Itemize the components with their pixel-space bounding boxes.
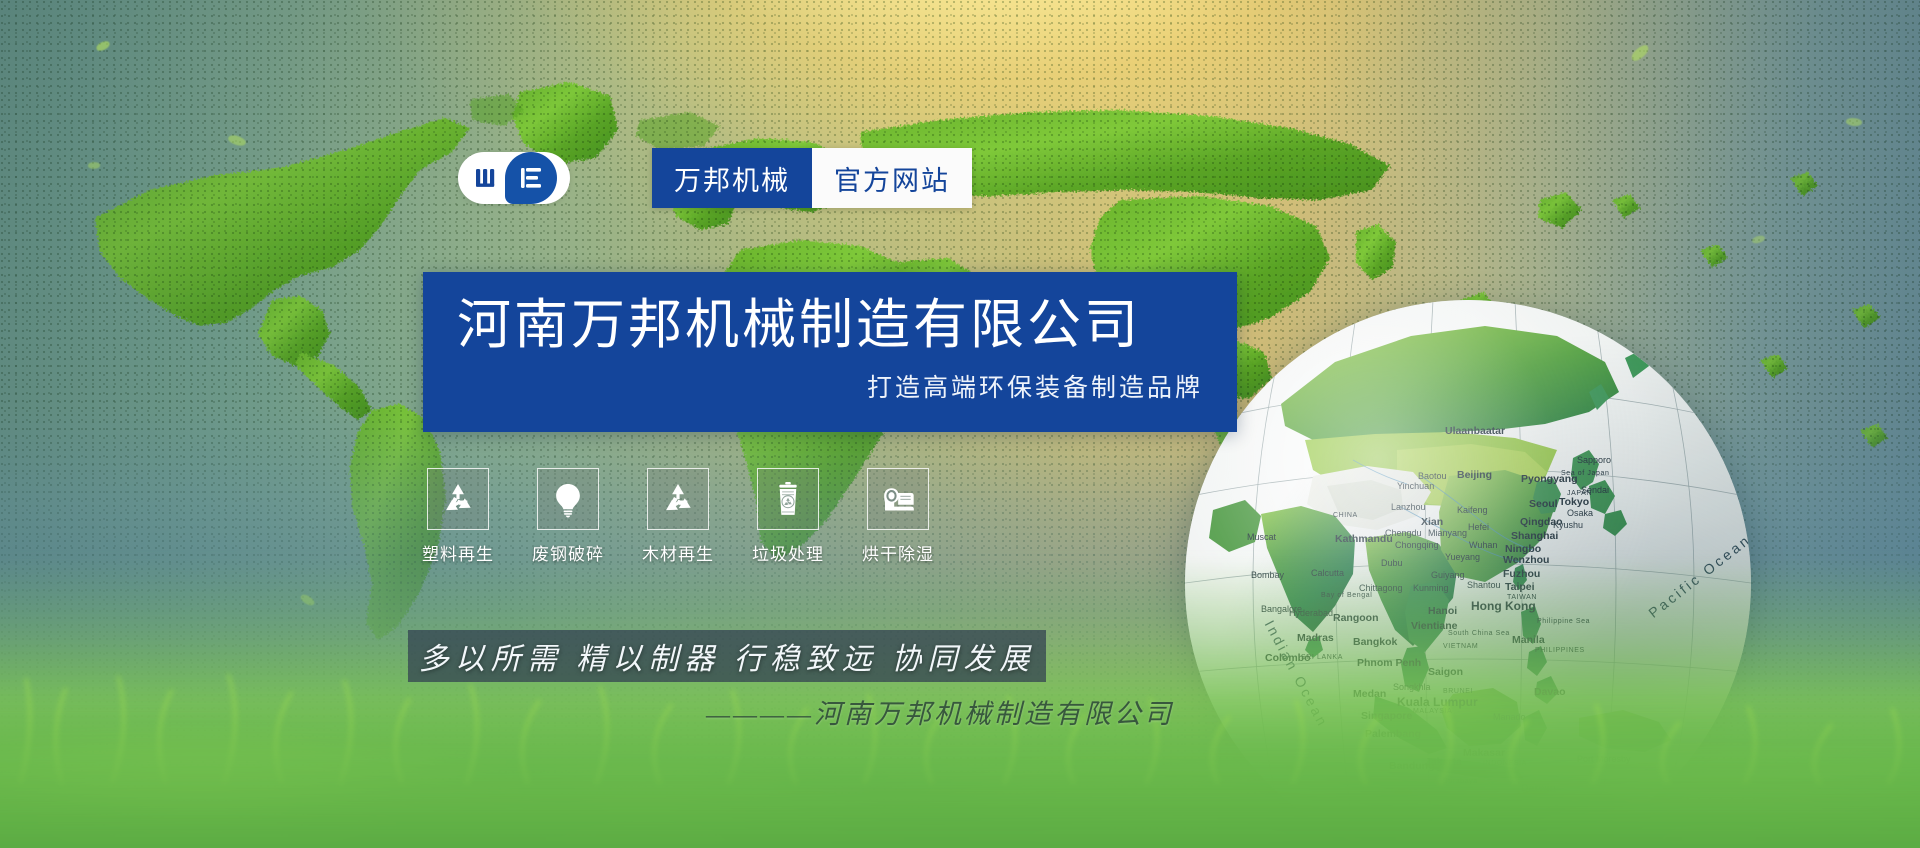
hero-title-banner: 河南万邦机械制造有限公司 打造高端环保装备制造品牌 [423,272,1237,432]
recycle-icon [439,480,477,518]
hero-banner: Ulaanbaatar Beijing Baotou Yinchuan Lanz… [0,0,1920,848]
slogan-signature: ————河南万邦机械制造有限公司 [700,692,1180,731]
feature-icon-row: 塑料再生 废钢破碎 [418,468,938,565]
nav-tabs: 万邦机械 官方网站 [652,148,972,208]
feature-item-wood-recycling[interactable]: 木材再生 [638,468,718,565]
feature-icon-box [867,468,929,530]
logo-b-bubble [505,152,557,204]
logo-w-mark [471,161,505,195]
slogan-text: 多以所需 精以制器 行稳致远 协同发展 [419,634,1036,678]
site-logo[interactable] [458,152,570,204]
feature-label: 垃圾处理 [752,540,824,565]
feature-icon-box [757,468,819,530]
feature-item-drying-dehumidifying[interactable]: 烘干除湿 [858,468,938,565]
feature-label: 塑料再生 [422,540,494,565]
feature-icon-box [647,468,709,530]
feature-item-plastic-recycling[interactable]: 塑料再生 [418,468,498,565]
tab-official-site[interactable]: 官方网站 [812,148,972,208]
lightbulb-icon [549,480,587,518]
feature-label: 木材再生 [642,540,714,565]
tab-brand[interactable]: 万邦机械 [652,148,812,208]
feature-icon-box [537,468,599,530]
recycle-icon [659,480,697,518]
logo-b-mark [518,165,544,191]
dryer-blower-icon [879,480,917,518]
feature-label: 烘干除湿 [862,540,934,565]
company-name: 河南万邦机械制造有限公司 [457,296,1203,355]
trash-bin-recycle-icon [769,480,807,518]
feature-icon-box [427,468,489,530]
company-tagline: 打造高端环保装备制造品牌 [457,368,1203,404]
slogan-bar: 多以所需 精以制器 行稳致远 协同发展 [408,630,1046,682]
feature-label: 废钢破碎 [532,540,604,565]
feature-item-waste-treatment[interactable]: 垃圾处理 [748,468,828,565]
feature-item-scrap-steel-crushing[interactable]: 废钢破碎 [528,468,608,565]
